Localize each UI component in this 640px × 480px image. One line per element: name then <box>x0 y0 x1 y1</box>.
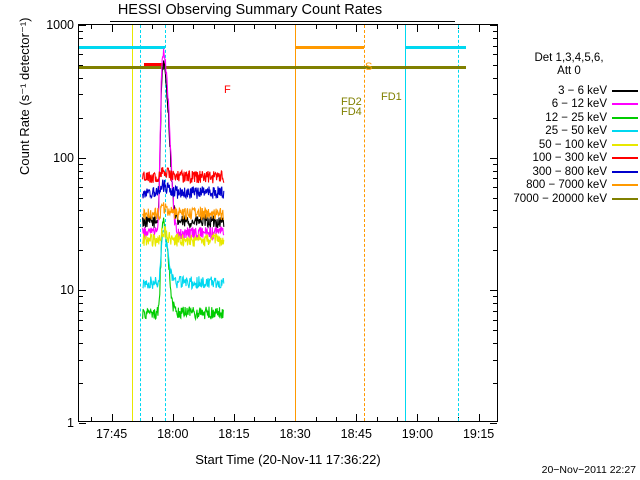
legend-item: 800 − 7000 keV <box>500 179 638 193</box>
y-axis-label: Count Rate (s⁻¹ detector⁻¹) <box>17 18 33 176</box>
legend-color-swatch <box>612 130 638 132</box>
legend-item: 100 − 300 keV <box>500 152 638 166</box>
legend-item: 25 − 50 keV <box>500 125 638 139</box>
x-tick-label: 19:00 <box>402 427 433 441</box>
data-curves <box>79 25 499 423</box>
plot-annotation-label: FD4 <box>341 106 362 118</box>
series-line <box>143 167 224 183</box>
x-tick-label: 19:15 <box>463 427 494 441</box>
y-tick-mark <box>490 423 497 424</box>
legend-rows: 3 − 6 keV6 − 12 keV12 − 25 keV25 − 50 ke… <box>500 84 638 206</box>
legend-color-swatch <box>612 171 638 173</box>
legend-item-label: 6 − 12 keV <box>552 98 607 110</box>
legend-color-swatch <box>612 157 638 159</box>
series-line <box>143 226 224 247</box>
title-underline <box>110 21 455 22</box>
legend-item: 12 − 25 keV <box>500 111 638 125</box>
legend-item-label: 800 − 7000 keV <box>526 179 607 191</box>
legend-color-swatch <box>612 144 638 146</box>
legend-color-swatch <box>612 184 638 186</box>
legend-item: 7000 − 20000 keV <box>500 192 638 206</box>
legend-color-swatch <box>612 198 638 200</box>
legend-color-swatch <box>612 103 638 105</box>
legend-item: 50 − 100 keV <box>500 138 638 152</box>
timestamp-stamp: 20−Nov−2011 22:27 <box>542 464 636 476</box>
y-tick-label: 1000 <box>46 18 74 32</box>
legend-header-line1: Det 1,3,4,5,6, <box>500 52 638 65</box>
legend-color-swatch <box>612 90 638 92</box>
plot-annotation-label: FD1 <box>381 91 402 103</box>
x-axis-label: Start Time (20-Nov-11 17:36:22) <box>78 452 498 467</box>
legend-item-label: 12 − 25 keV <box>545 112 607 124</box>
series-line <box>143 61 224 229</box>
y-tick-label: 100 <box>53 151 74 165</box>
legend-item-label: 7000 − 20000 keV <box>513 193 607 205</box>
legend-item-label: 100 − 300 keV <box>533 152 608 164</box>
legend-item-label: 50 − 100 keV <box>539 139 607 151</box>
plot-area: Count Rate (s⁻¹ detector⁻¹) 110100100017… <box>78 24 498 422</box>
x-tick-label: 18:00 <box>157 427 188 441</box>
legend-item-label: 25 − 50 keV <box>545 125 607 137</box>
x-tick-label: 17:45 <box>96 427 127 441</box>
plot-annotation-label: F <box>224 84 231 96</box>
legend-item-label: 300 − 800 keV <box>533 166 608 178</box>
y-tick-label: 10 <box>60 283 74 297</box>
plot-annotation-label: S <box>365 61 372 73</box>
legend-item: 300 − 800 keV <box>500 165 638 179</box>
page-title: HESSI Observing Summary Count Rates <box>0 2 500 18</box>
legend-item: 3 − 6 keV <box>500 84 638 98</box>
chart-page: HESSI Observing Summary Count Rates Coun… <box>0 0 640 480</box>
x-tick-label: 18:15 <box>218 427 249 441</box>
x-tick-label: 18:30 <box>279 427 310 441</box>
legend: Det 1,3,4,5,6, Att 0 3 − 6 keV6 − 12 keV… <box>500 52 638 206</box>
legend-header-line2: Att 0 <box>500 65 638 78</box>
x-tick-label: 18:45 <box>341 427 372 441</box>
legend-color-swatch <box>612 117 638 119</box>
legend-item-label: 3 − 6 keV <box>558 85 607 97</box>
y-tick-mark <box>79 423 86 424</box>
legend-item: 6 − 12 keV <box>500 98 638 112</box>
y-tick-label: 1 <box>67 416 74 430</box>
